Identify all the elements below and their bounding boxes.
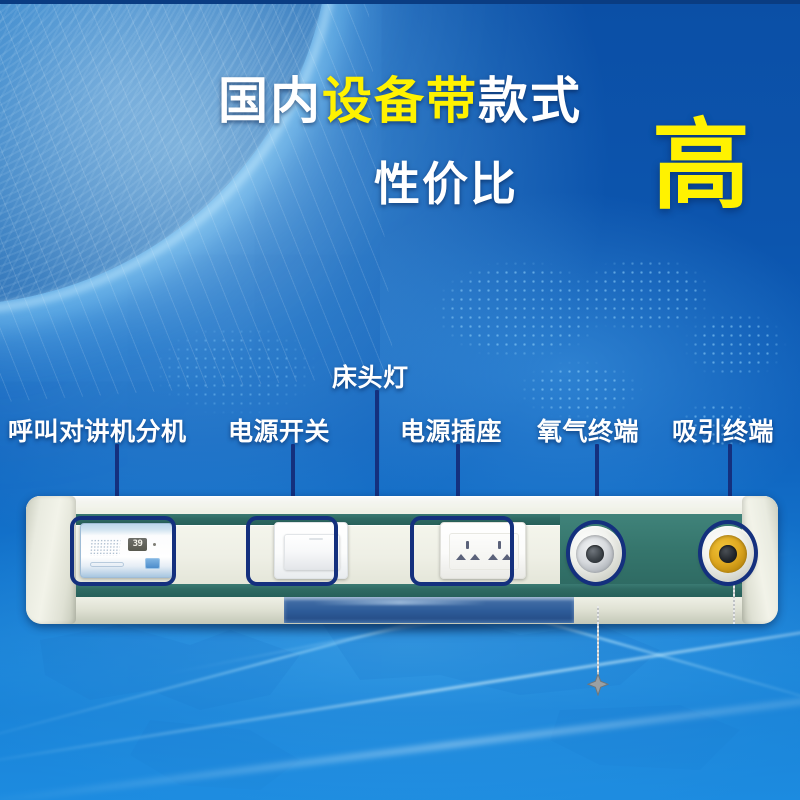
pull-cord-handle-icon[interactable] (587, 674, 609, 696)
intercom-indicator-led (153, 543, 156, 546)
speaker-grille-icon (89, 539, 120, 556)
power-socket-face (449, 533, 519, 570)
callout-label-power-switch: 电源开关 (228, 412, 330, 448)
panel-end-cap-left (26, 496, 76, 624)
socket-blade-slot (488, 554, 498, 560)
panel-body: 39 (26, 496, 778, 624)
intercom-display: 39 (128, 538, 147, 551)
socket-blade-slot (456, 554, 466, 560)
headline-emphasis: 高 (652, 116, 750, 214)
suction-terminal-port[interactable] (719, 545, 737, 563)
power-switch-notch-icon (309, 538, 323, 540)
socket-pin-slot (466, 541, 469, 549)
callout-label-power-socket: 电源插座 (400, 412, 502, 448)
callout-label-suction-terminal: 吸引终端 (672, 412, 774, 448)
intercom-label-strip (90, 562, 124, 567)
bottom-fade (0, 640, 800, 800)
headline-seg-1: 国内 (218, 73, 322, 129)
suction-pull-cord[interactable] (733, 582, 735, 624)
headline-line-2: 性价比 高 (0, 134, 800, 226)
panel-stripe-bottom (72, 584, 778, 597)
headline-seg-3: 款式 (478, 73, 582, 129)
power-switch-unit[interactable] (274, 522, 348, 579)
headline-seg-2: 设备带 (322, 73, 478, 129)
power-socket-unit[interactable] (440, 522, 526, 579)
nurse-call-intercom-unit[interactable]: 39 (80, 523, 173, 578)
power-switch-rocker[interactable] (284, 534, 340, 570)
intercom-call-button[interactable] (145, 558, 160, 569)
socket-blade-slot (470, 554, 480, 560)
socket-pin-slot (498, 541, 501, 549)
top-edge-band (0, 0, 800, 4)
oxygen-pull-cord[interactable] (597, 606, 599, 678)
oxygen-terminal-outlet[interactable] (567, 526, 623, 582)
bed-head-unit-panel: 39 (26, 496, 778, 636)
suction-terminal-outlet[interactable] (700, 526, 756, 582)
poster-canvas: 国内设备带款式 性价比 高 呼叫对讲机分机 电源开关 床头灯 电源插座 氧气终端… (0, 0, 800, 800)
socket-blade-slot (502, 554, 512, 560)
callout-label-oxygen-terminal: 氧气终端 (537, 412, 639, 448)
callout-label-intercom: 呼叫对讲机分机 (8, 412, 187, 448)
headline-value-label: 性价比 (374, 148, 518, 214)
panel-top-highlight (26, 496, 778, 512)
headline-block: 国内设备带款式 性价比 高 (0, 72, 800, 226)
bed-lamp-cover[interactable] (284, 597, 574, 623)
oxygen-terminal-port[interactable] (586, 545, 604, 563)
callout-label-bed-lamp: 床头灯 (332, 358, 409, 394)
